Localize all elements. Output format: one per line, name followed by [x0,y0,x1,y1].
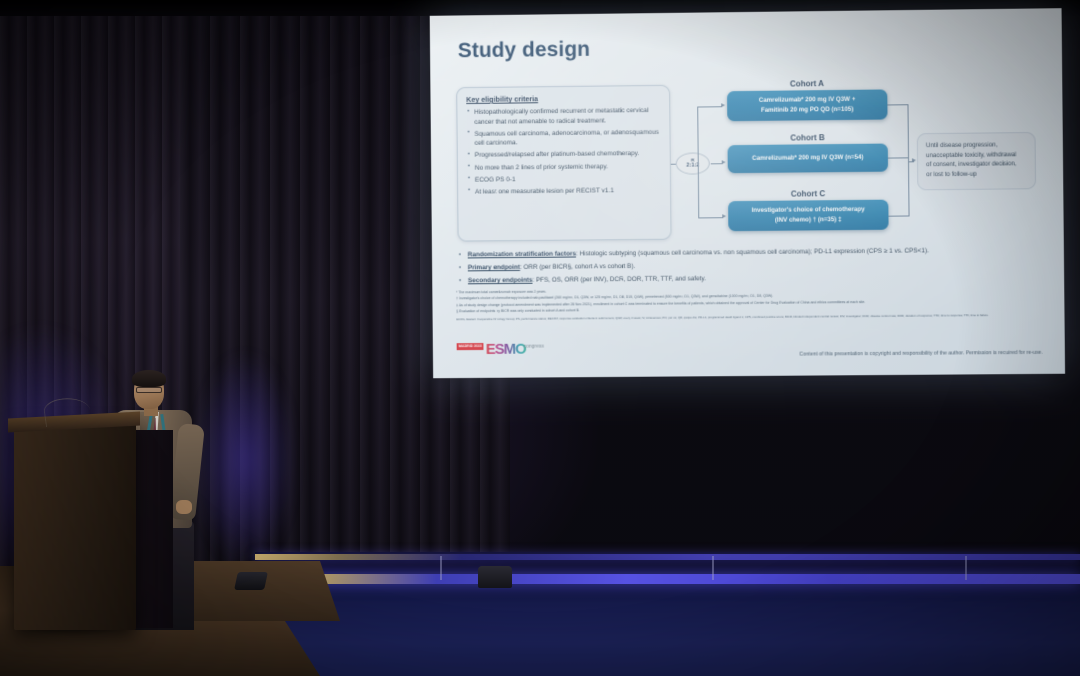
endpoint-text: : PFS, OS, ORR (per INV), DCR, DOR, TTR,… [532,276,705,284]
cohort-a-box: Camrelizumab* 200 mg IV Q3W + Famitinib … [727,89,888,121]
esmo-congress-label: congress [524,344,544,350]
stage-wedge-monitor [234,572,268,590]
speaker-glasses [136,387,162,393]
arrow-cohortB [722,160,726,164]
endpoints-list: Randomization stratification factors: Hi… [456,245,1046,289]
list-item-randomization-factors: Randomization stratification factors: Hi… [456,245,1046,260]
conference-photo: Study design Key eligibility criteria Hi… [0,0,1080,676]
cohort-b-box: Camrelizumab* 200 mg IV Q3W (n=54) [728,144,889,174]
list-item: ECOG PS 0-1 [467,173,661,184]
cohort-b-label: Cohort B [727,133,887,144]
stage-edge-lit [255,574,1080,584]
cohort-c-line2: (INV chemo) † (n=35) ‡ [775,215,842,225]
endpoint-label: Randomization stratification factors [468,251,576,259]
outcome-line4: or lost to follow-up [926,169,1027,180]
esmo-wordmark: ESMO [486,343,526,357]
podium: MADRID 2023 ESMO congress [14,422,136,630]
footnotes: * The maximum total camrelizumab exposur… [456,285,1052,315]
eligibility-heading: Key eligibility criteria [466,93,660,104]
cohort-b-line1: Camrelizumab* 200 mg IV Q3W (n=54) [752,153,864,164]
esmo-madrid-badge: MADRID 2023 [457,343,484,350]
cohort-a-label: Cohort A [727,78,887,89]
list-item: Progressed/relapsed after platinum-based… [467,149,661,161]
list-item-primary-endpoint: Primary endpoint: ORR (per BICR§, cohort… [456,259,1046,274]
randomization-node: R 2:1:2 [676,152,710,174]
arrow-cohortA [721,104,725,108]
cohort-c-label: Cohort C [728,189,888,200]
speaker-hair [132,370,166,387]
arrow-outcome [912,158,916,162]
projected-slide: Study design Key eligibility criteria Hi… [430,8,1065,378]
eligibility-criteria-card: Key eligibility criteria Histopathologic… [456,85,671,242]
stage-rail-divider [440,556,442,580]
stage-monitor-speaker [478,566,512,588]
cohort-c-box: Investigator's choice of chemotherapy (I… [728,200,889,232]
speaker-hand [176,500,192,514]
slide-title: Study design [458,38,590,63]
esmo-logo: MADRID 2023 ESMO congress [457,343,544,357]
connector-cohortA-out [887,104,907,105]
endpoint-label: Secondary endpoints [468,277,533,285]
list-item: No more than 2 lines of prior systemic t… [467,161,661,173]
stage-rail-divider [965,556,967,580]
connector-to-cohortA [697,106,722,107]
list-item: At least one measurable lesion per RECIS… [467,186,661,197]
cohort-c-line1: Investigator's choice of chemotherapy [752,205,865,216]
endpoint-text: : ORR (per BICR§, cohort A vs cohort B). [520,263,635,271]
treatment-duration-box: Until disease progression, unacceptable … [917,132,1036,190]
connector-cohortC-out [888,215,908,216]
connector-cohortB-out [888,157,908,158]
eligibility-list: Histopathologically confirmed recurrent … [466,106,661,197]
arrow-cohortC [722,215,726,219]
cohort-a-line2: Famitinib 20 mg PO QD (n=105) [761,105,854,116]
endpoint-label: Primary endpoint [468,264,520,271]
endpoint-text: : Histologic subtyping (squamous cell ca… [576,247,929,257]
copyright-notice: Content of this presentation is copyrigh… [799,350,1042,358]
stage-edge-upper [255,554,1080,560]
list-item: Histopathologically confirmed recurrent … [466,106,660,127]
list-item: Squamous cell carcinoma, adenocarcinoma,… [466,128,660,149]
list-item-secondary-endpoints: Secondary endpoints: PFS, OS, ORR (per I… [456,272,1046,287]
connector-to-cohortC [698,217,723,218]
stage-rail-divider [712,556,714,580]
outcome-line3: of consent, investigator decision, [926,159,1027,170]
